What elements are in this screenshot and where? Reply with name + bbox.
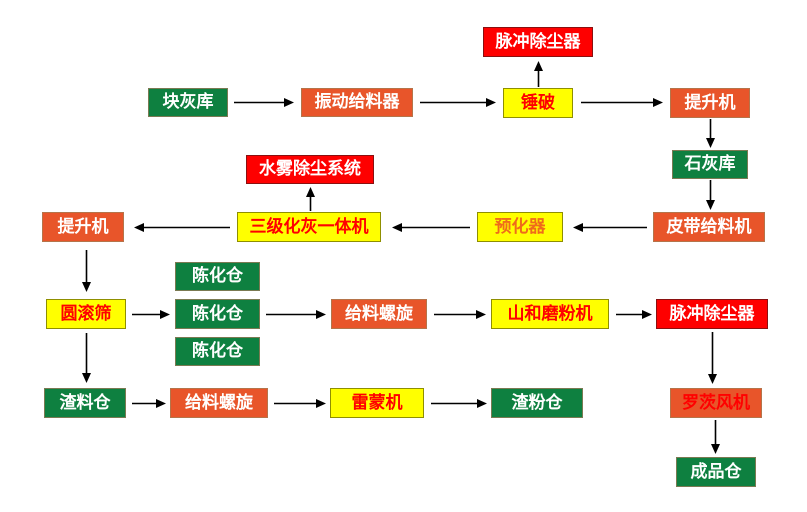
connector-ti-sheng-2-to-yuan-gun-shai	[82, 250, 91, 292]
connector-mai-chong-2-to-luo-ci	[708, 332, 717, 384]
node-mai-chong-chu-chen-2[interactable]: 脉冲除尘器	[656, 299, 768, 329]
node-ti-sheng-ji-1[interactable]: 提升机	[670, 88, 750, 118]
connector-ji-liao-2-to-lei-meng	[274, 399, 326, 408]
connector-yuan-gun-shai-to-chen-hua	[132, 310, 170, 319]
flowchart-canvas: 块灰库振动给料器脉冲除尘器锤破提升机石灰库皮带给料机水雾除尘系统三级化灰一体机预…	[0, 0, 807, 512]
node-shui-wu-chu-chen[interactable]: 水雾除尘系统	[246, 155, 374, 184]
connector-luo-ci-to-cheng-pin-cang	[711, 420, 720, 454]
node-chen-hua-cang-1[interactable]: 陈化仓	[175, 262, 260, 291]
node-chen-hua-cang-2[interactable]: 陈化仓	[175, 299, 260, 329]
connector-yu-hua-qi-to-san-ji	[392, 223, 470, 232]
connector-zha-liao-cang-to-ji-liao-2	[132, 399, 166, 408]
node-kuai-hui-ku[interactable]: 块灰库	[148, 88, 228, 117]
connector-chui-po-to-mai-chong	[534, 61, 543, 87]
node-mai-chong-chu-chen-1[interactable]: 脉冲除尘器	[483, 27, 593, 57]
connector-chui-po-to-ti-sheng	[581, 98, 663, 107]
node-yu-hua-qi[interactable]: 预化器	[477, 212, 563, 242]
node-shan-he-mo-fen-ji[interactable]: 山和磨粉机	[491, 299, 609, 329]
node-chui-po[interactable]: 锤破	[503, 88, 573, 118]
node-zha-liao-cang[interactable]: 渣料仓	[44, 388, 126, 418]
connector-shan-he-to-mai-chong-2	[616, 310, 652, 319]
node-san-ji-hua-hui[interactable]: 三级化灰一体机	[237, 212, 381, 242]
node-chen-hua-cang-3[interactable]: 陈化仓	[175, 337, 260, 366]
connector-ji-liao-luo-xuan-to-shan-he	[434, 310, 486, 319]
node-yuan-gun-shai[interactable]: 圆滚筛	[46, 299, 126, 329]
connector-lei-meng-to-zha-fen-cang	[431, 399, 487, 408]
node-shi-hui-ku[interactable]: 石灰库	[672, 150, 748, 179]
connector-pi-dai-to-yu-hua-qi	[573, 223, 647, 232]
connector-yuan-gun-shai-to-zha-liao-cang	[82, 333, 91, 383]
connector-kuai-hui-ku-to-zhen-dong	[234, 98, 294, 107]
node-ji-liao-luo-xuan-1[interactable]: 给料螺旋	[331, 299, 427, 329]
connector-chen-hua-to-ji-liao-luo-xuan	[266, 310, 326, 319]
node-lei-meng-ji[interactable]: 雷蒙机	[330, 388, 424, 418]
connector-san-ji-to-shui-wu	[306, 187, 315, 211]
connector-san-ji-to-ti-sheng-2	[134, 223, 230, 232]
connector-zhen-dong-to-chui-po	[420, 98, 496, 107]
node-pi-dai-ji-liao-ji[interactable]: 皮带给料机	[653, 212, 765, 242]
node-cheng-pin-cang[interactable]: 成品仓	[676, 457, 756, 487]
connector-ti-sheng-to-shi-hui-ku	[706, 119, 715, 148]
node-zha-fen-cang[interactable]: 渣粉仓	[491, 388, 583, 418]
node-luo-ci-feng-ji[interactable]: 罗茨风机	[670, 388, 762, 418]
node-ji-liao-luo-xuan-2[interactable]: 给料螺旋	[170, 388, 268, 418]
connector-shi-hui-ku-to-pi-dai	[706, 180, 715, 210]
node-zhen-dong-ji-liao[interactable]: 振动给料器	[301, 88, 413, 117]
node-ti-sheng-ji-2[interactable]: 提升机	[42, 212, 124, 242]
